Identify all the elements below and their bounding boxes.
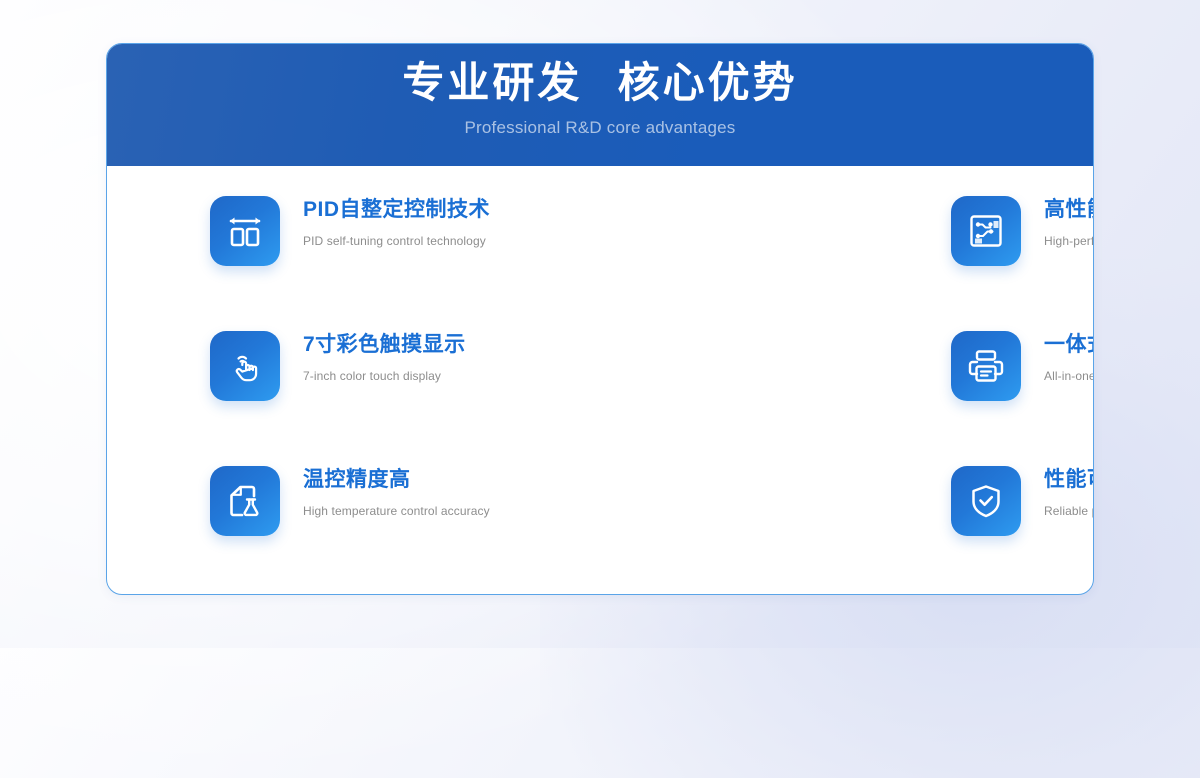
feature-subtitle: All-in-one thermal printer [1044, 369, 1094, 383]
feature-text: 高性能微处理器 High-performance microprocessor [1021, 196, 1094, 248]
feature-text: 性能可靠操作方便 Reliable performance and conven… [1021, 466, 1094, 518]
microprocessor-chip-icon-tile [951, 196, 1021, 266]
feature-title: 性能可靠操作方便 [1044, 467, 1094, 493]
feature-item-temperature-accuracy: 温控精度高 High temperature control accuracy [107, 466, 490, 595]
card-header: 专业研发 核心优势 Professional R&D core advantag… [107, 44, 1093, 166]
feature-item-touch-display: 7寸彩色触摸显示 7-inch color touch display [107, 331, 490, 466]
feature-subtitle: High-performance microprocessor [1044, 234, 1094, 248]
printer-icon [965, 345, 1007, 387]
feature-title: 7寸彩色触摸显示 [303, 332, 466, 358]
feature-item-reliable-performance: 性能可靠操作方便 Reliable performance and conven… [490, 466, 1094, 595]
width-adjust-icon-tile [210, 196, 280, 266]
document-flask-icon-tile [210, 466, 280, 536]
card-body: PID自整定控制技术 PID self-tuning control techn… [107, 166, 1093, 594]
printer-icon-tile [951, 331, 1021, 401]
feature-text: 一体式热敏打印机 All-in-one thermal printer [1021, 331, 1094, 383]
feature-item-printer: 一体式热敏打印机 All-in-one thermal printer [490, 331, 1094, 466]
feature-title: PID自整定控制技术 [303, 197, 490, 223]
feature-item-microprocessor: 高性能微处理器 High-performance microprocessor [490, 196, 1094, 331]
features-grid: PID自整定控制技术 PID self-tuning control techn… [107, 184, 1093, 595]
feature-text: PID自整定控制技术 PID self-tuning control techn… [280, 196, 490, 248]
feature-item-pid: PID自整定控制技术 PID self-tuning control techn… [107, 196, 490, 331]
width-adjust-icon [224, 210, 266, 252]
feature-subtitle: Reliable performance and convenient oper… [1044, 504, 1094, 518]
touch-hand-icon-tile [210, 331, 280, 401]
document-flask-icon [224, 480, 266, 522]
touch-hand-icon [224, 345, 266, 387]
feature-title: 温控精度高 [303, 467, 490, 493]
feature-text: 温控精度高 High temperature control accuracy [280, 466, 490, 518]
feature-subtitle: 7-inch color touch display [303, 369, 466, 383]
shield-check-icon-tile [951, 466, 1021, 536]
feature-text: 7寸彩色触摸显示 7-inch color touch display [280, 331, 466, 383]
features-card: 专业研发 核心优势 Professional R&D core advantag… [106, 43, 1094, 595]
feature-subtitle: High temperature control accuracy [303, 504, 490, 518]
feature-title: 高性能微处理器 [1044, 197, 1094, 223]
page-subtitle: Professional R&D core advantages [465, 118, 736, 138]
page-title: 专业研发 核心优势 [402, 56, 797, 111]
feature-subtitle: PID self-tuning control technology [303, 234, 490, 248]
feature-title: 一体式热敏打印机 [1044, 332, 1094, 358]
shield-check-icon [965, 480, 1007, 522]
microprocessor-chip-icon [965, 210, 1007, 252]
